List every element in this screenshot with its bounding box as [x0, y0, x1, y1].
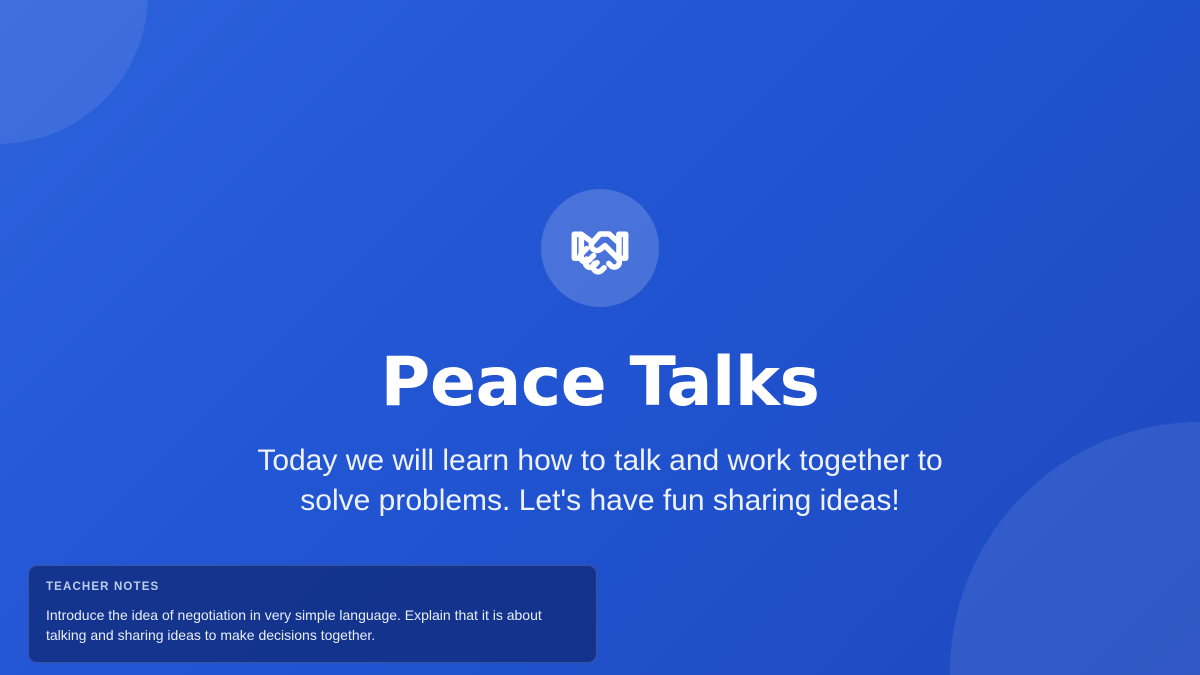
teacher-notes-panel: TEACHER NOTES Introduce the idea of nego… — [28, 565, 597, 663]
decorative-circle-top-left-icon — [0, 0, 148, 144]
presentation-slide: Peace Talks Today we will learn how to t… — [0, 0, 1200, 675]
slide-hero-content: Peace Talks Today we will learn how to t… — [0, 189, 1200, 521]
slide-subtitle: Today we will learn how to talk and work… — [220, 441, 980, 521]
slide-title: Peace Talks — [381, 349, 820, 417]
handshake-icon-badge — [541, 189, 659, 307]
teacher-notes-label: TEACHER NOTES — [46, 582, 578, 594]
teacher-notes-body: Introduce the idea of negotiation in ver… — [46, 605, 578, 646]
handshake-icon — [565, 213, 635, 283]
